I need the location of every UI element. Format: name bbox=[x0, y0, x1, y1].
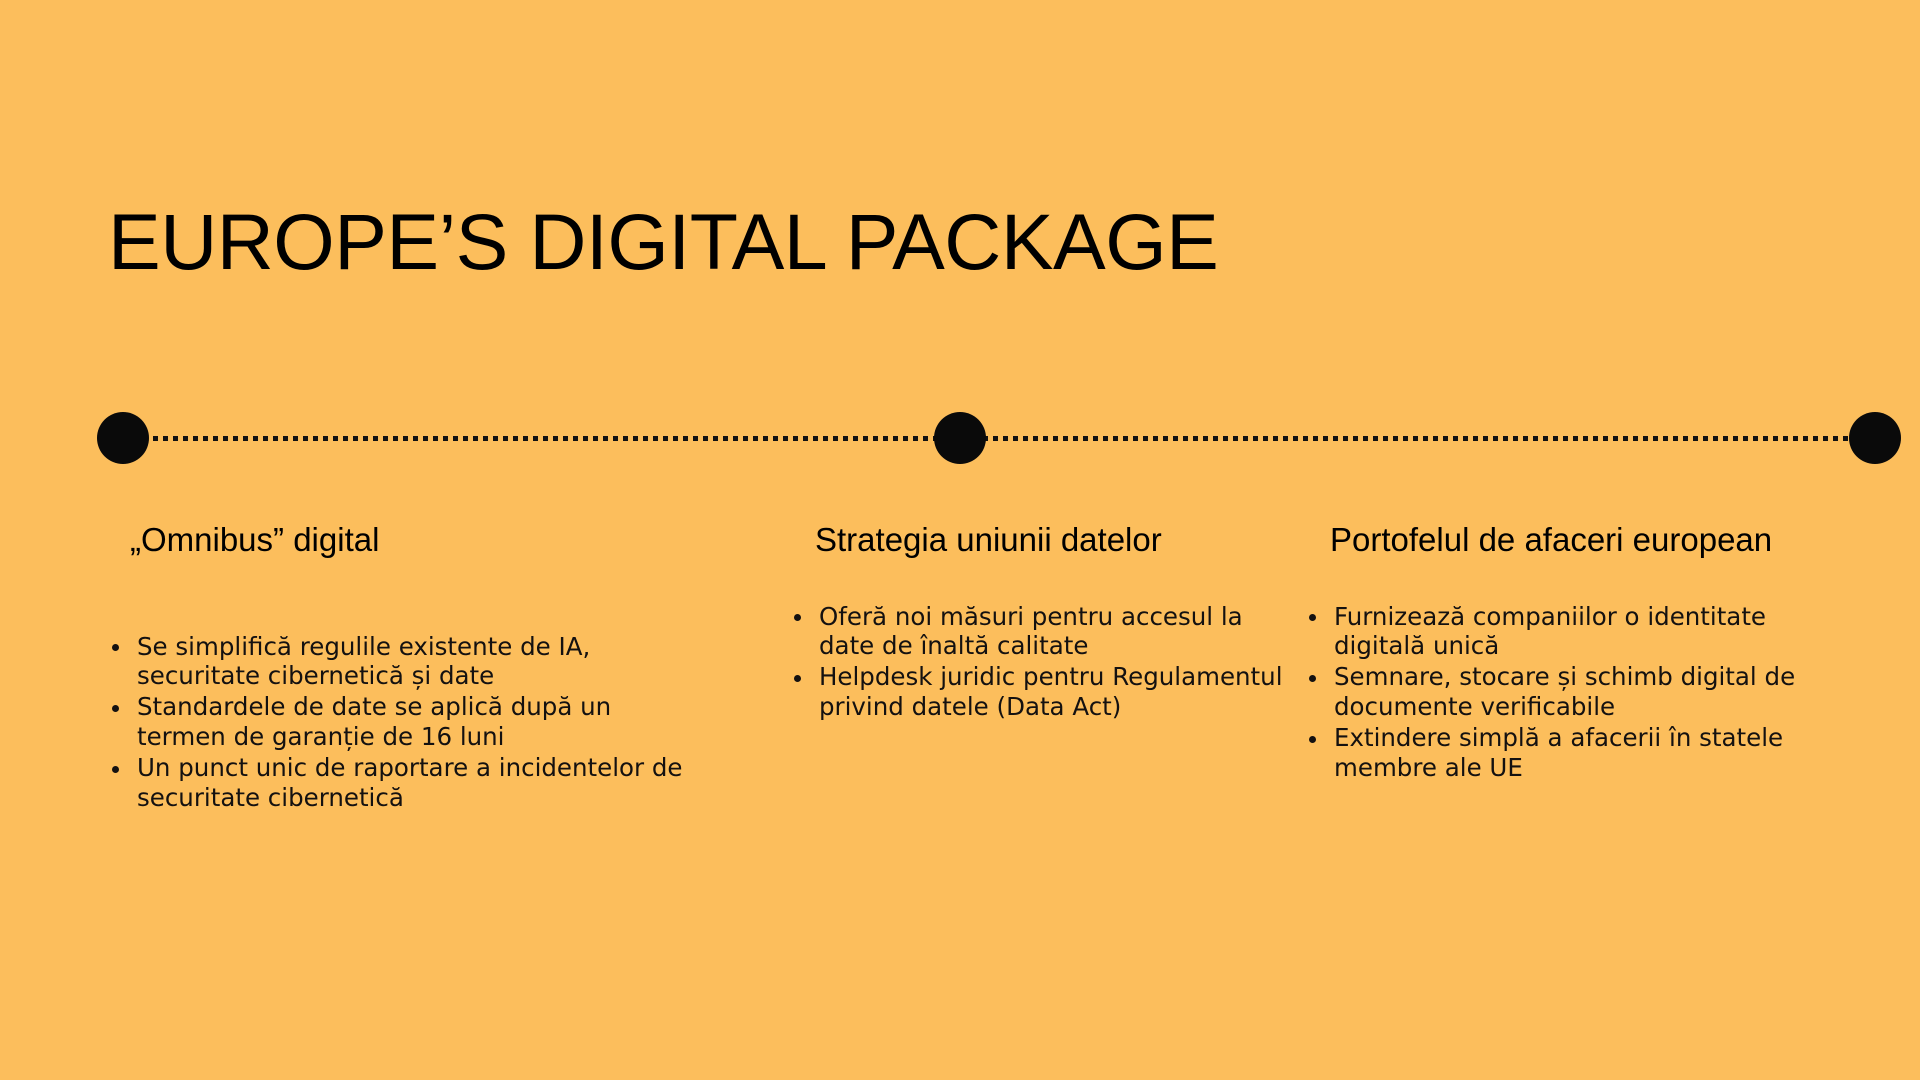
bullet-list-2: Oferă noi măsuri pentru accesul la date … bbox=[790, 602, 1285, 723]
list-item-text: Se simplifică regulile existente de IA, … bbox=[137, 632, 590, 691]
list-item: Extindere simplă a afacerii în statele m… bbox=[1305, 723, 1850, 783]
list-item-text: Furnizează companiilor o identitate digi… bbox=[1334, 602, 1766, 661]
list-item-text: Helpdesk juridic pentru Regulamentul pri… bbox=[819, 662, 1283, 721]
timeline bbox=[0, 412, 1920, 464]
column-heading-1: „Omnibus” digital bbox=[130, 520, 700, 560]
bullet-dot-icon bbox=[112, 766, 119, 773]
list-item-text: Semnare, stocare și schimb digital de do… bbox=[1334, 662, 1795, 721]
bullet-dot-icon bbox=[112, 705, 119, 712]
list-item-text: Un punct unic de raportare a incidentelo… bbox=[137, 753, 683, 812]
timeline-dotted-line bbox=[123, 436, 1875, 441]
bullet-list-1: Se simplifică regulile existente de IA, … bbox=[108, 632, 700, 813]
list-item-text: Standardele de date se aplică după un te… bbox=[137, 692, 611, 751]
content-columns: „Omnibus” digital Se simplifică regulile… bbox=[0, 520, 1920, 960]
list-item: Oferă noi măsuri pentru accesul la date … bbox=[790, 602, 1285, 662]
bullet-dot-icon bbox=[112, 644, 119, 651]
bullet-dot-icon bbox=[794, 675, 801, 682]
column-heading-2: Strategia uniunii datelor bbox=[815, 520, 1285, 560]
list-item: Un punct unic de raportare a incidentelo… bbox=[108, 753, 700, 813]
bullet-list-3: Furnizează companiilor o identitate digi… bbox=[1305, 602, 1850, 783]
bullet-dot-icon bbox=[794, 614, 801, 621]
timeline-marker-3 bbox=[1849, 412, 1901, 464]
list-item: Furnizează companiilor o identitate digi… bbox=[1305, 602, 1850, 662]
bullet-dot-icon bbox=[1309, 675, 1316, 682]
bullet-dot-icon bbox=[1309, 736, 1316, 743]
bullet-dot-icon bbox=[1309, 614, 1316, 621]
column-omnibus-digital: „Omnibus” digital Se simplifică regulile… bbox=[130, 520, 700, 814]
page-title: EUROPE’S DIGITAL PACKAGE bbox=[108, 201, 1218, 284]
timeline-marker-1 bbox=[97, 412, 149, 464]
list-item: Standardele de date se aplică după un te… bbox=[108, 692, 700, 752]
column-portofelul-de-afaceri-european: Portofelul de afaceri european Furnizeaz… bbox=[1330, 520, 1850, 784]
list-item: Semnare, stocare și schimb digital de do… bbox=[1305, 662, 1850, 722]
list-item-text: Extindere simplă a afacerii în statele m… bbox=[1334, 723, 1783, 782]
list-item: Helpdesk juridic pentru Regulamentul pri… bbox=[790, 662, 1285, 722]
timeline-marker-2 bbox=[934, 412, 986, 464]
list-item-text: Oferă noi măsuri pentru accesul la date … bbox=[819, 602, 1243, 661]
slide-canvas: EUROPE’S DIGITAL PACKAGE „Omnibus” digit… bbox=[0, 0, 1920, 1080]
column-heading-3: Portofelul de afaceri european bbox=[1330, 520, 1850, 560]
column-strategia-uniunii-datelor: Strategia uniunii datelor Oferă noi măsu… bbox=[815, 520, 1285, 723]
list-item: Se simplifică regulile existente de IA, … bbox=[108, 632, 700, 692]
